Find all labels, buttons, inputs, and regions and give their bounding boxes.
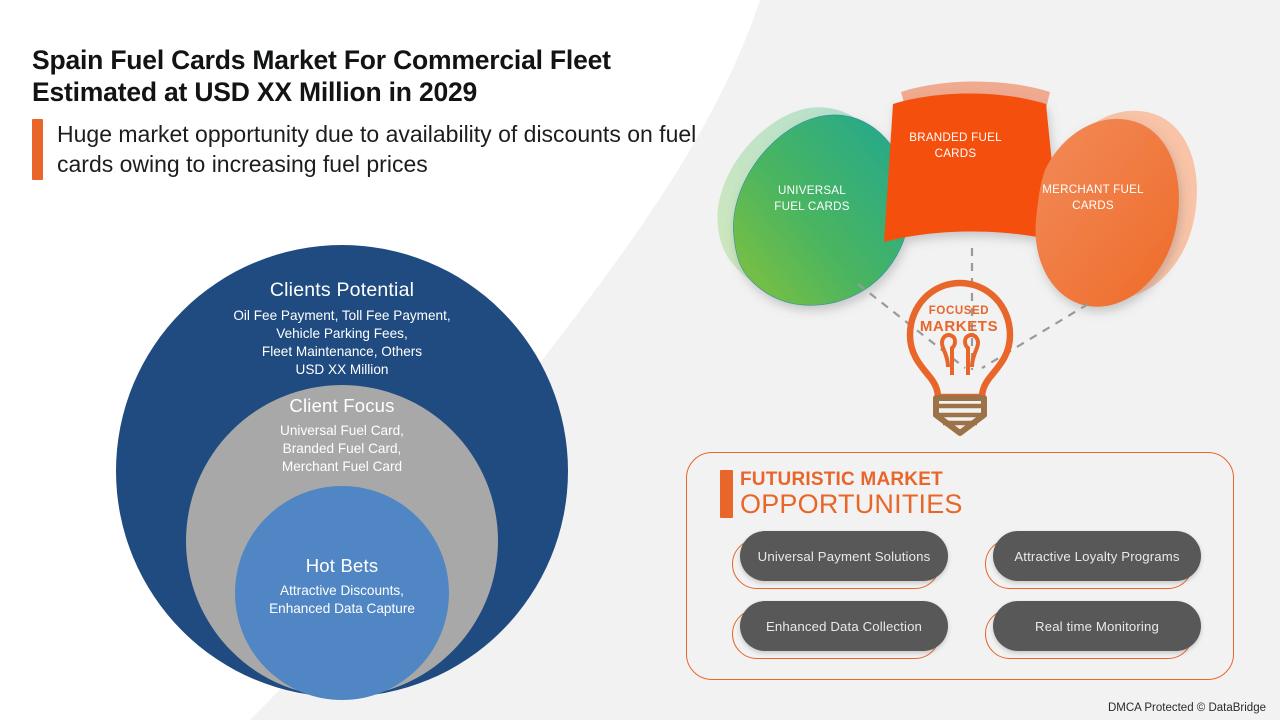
clients-potential-title: Clients Potential [116, 279, 568, 302]
opportunities-heading-line2: OPPORTUNITIES [740, 490, 963, 518]
footer-copyright: DMCA Protected © DataBridge [1108, 702, 1266, 714]
lightbulb-icon [890, 275, 1030, 440]
client-focus-body: Universal Fuel Card, Branded Fuel Card, … [116, 422, 568, 476]
label-hot-bets: Hot Bets Attractive Discounts, Enhanced … [116, 555, 568, 618]
hot-bets-body: Attractive Discounts, Enhanced Data Capt… [116, 582, 568, 618]
concentric-circles-diagram: Clients Potential Oil Fee Payment, Toll … [116, 245, 568, 697]
opportunity-item[interactable]: Enhanced Data Collection [740, 601, 948, 651]
opportunities-heading-line1: FUTURISTIC MARKET [740, 470, 963, 489]
opportunity-item[interactable]: Universal Payment Solutions [740, 531, 948, 581]
label-clients-potential: Clients Potential Oil Fee Payment, Toll … [116, 279, 568, 379]
opportunities-heading: FUTURISTIC MARKET OPPORTUNITIES [720, 470, 963, 518]
opportunity-item[interactable]: Attractive Loyalty Programs [993, 531, 1201, 581]
infographic-canvas: Spain Fuel Cards Market For Commercial F… [0, 0, 1280, 720]
client-focus-title: Client Focus [116, 395, 568, 417]
page-title: Spain Fuel Cards Market For Commercial F… [32, 44, 712, 109]
opportunity-label[interactable]: Universal Payment Solutions [740, 531, 948, 581]
opportunity-label[interactable]: Attractive Loyalty Programs [993, 531, 1201, 581]
opportunity-label[interactable]: Real time Monitoring [993, 601, 1201, 651]
clients-potential-body: Oil Fee Payment, Toll Fee Payment, Vehic… [116, 307, 568, 379]
hot-bets-title: Hot Bets [116, 555, 568, 577]
opportunity-item[interactable]: Real time Monitoring [993, 601, 1201, 651]
page-subtitle: Huge market opportunity due to availabil… [57, 119, 712, 180]
opportunity-label[interactable]: Enhanced Data Collection [740, 601, 948, 651]
accent-bar-icon [32, 119, 43, 180]
header: Spain Fuel Cards Market For Commercial F… [32, 44, 712, 180]
label-client-focus: Client Focus Universal Fuel Card, Brande… [116, 395, 568, 476]
accent-bar-icon [720, 470, 733, 518]
subtitle-block: Huge market opportunity due to availabil… [32, 119, 712, 180]
